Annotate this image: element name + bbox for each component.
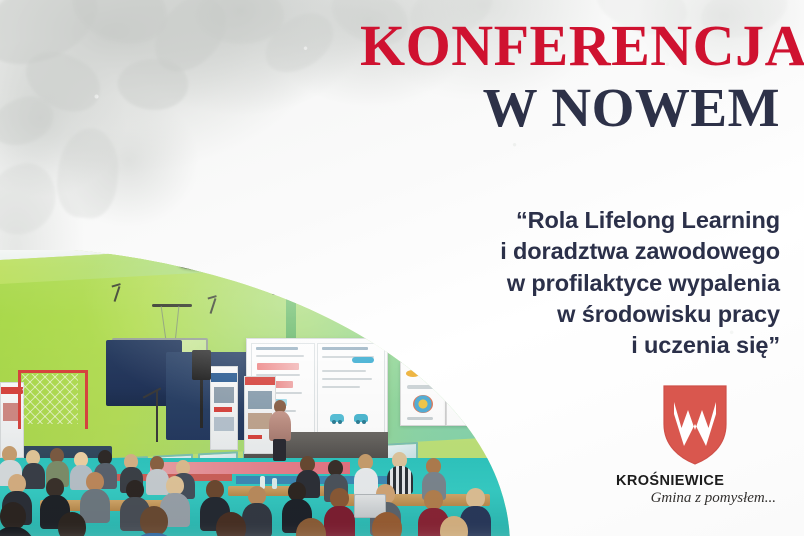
municipality-name: KROŚNIEWICE — [610, 473, 780, 489]
person-head — [424, 490, 443, 510]
person-body — [354, 468, 378, 496]
presenter-body — [269, 411, 291, 441]
person-body — [324, 506, 355, 536]
handball-goal-net — [22, 374, 78, 424]
person-head — [466, 488, 485, 508]
person-head — [330, 488, 349, 508]
headline-line-1: KONFERENCJA — [360, 18, 780, 75]
slide-text-line — [322, 378, 372, 380]
water-bottle-icon — [272, 478, 277, 489]
flipchart-scribble — [407, 417, 433, 420]
page-title: KONFERENCJA W NOWEM — [360, 18, 780, 135]
quote-line-2: i doradztwa zawodowego — [370, 236, 780, 267]
microphone-stand — [156, 390, 158, 442]
slide-title-bar — [322, 347, 368, 350]
quote-line-4: w środowisku pracy — [370, 299, 780, 330]
flipchart-scribble — [413, 395, 433, 413]
person-head — [58, 512, 86, 536]
banner-band — [245, 377, 275, 385]
wall-crossbar — [152, 304, 192, 307]
presenter-legs — [273, 439, 286, 461]
quote-line-3: w profilaktyce wypalenia — [370, 268, 780, 299]
banner-image — [214, 417, 234, 431]
municipality-tagline: Gmina z pomysłem... — [610, 490, 780, 507]
banner-band — [214, 407, 232, 412]
person-head — [216, 512, 246, 536]
speaker-cabinet-icon — [192, 350, 211, 380]
person-body — [80, 489, 110, 523]
slide-text-line — [256, 355, 304, 357]
slide-title-bar — [256, 347, 298, 350]
quote-line-1: “Rola Lifelong Learning — [370, 205, 780, 236]
slide-car-icon — [354, 414, 368, 422]
person-head — [140, 506, 168, 536]
coat-of-arms-shield-icon — [662, 384, 728, 466]
headline-line-2: W NOWEM — [360, 81, 780, 135]
banner-band — [248, 435, 262, 439]
conference-poster: KONFERENCJA W NOWEM “Rola Lifelong Learn… — [0, 0, 804, 536]
slide-text-line — [322, 386, 360, 388]
slide-bar-chart — [257, 363, 299, 370]
person-body — [242, 503, 272, 536]
banner-image — [214, 387, 234, 403]
person-head — [372, 512, 402, 536]
rollup-banner — [210, 366, 238, 450]
conference-topic-quote: “Rola Lifelong Learning i doradztwa zawo… — [370, 205, 780, 361]
quote-line-5: i uczenia się” — [370, 330, 780, 361]
slide-car-icon — [330, 414, 344, 422]
speaker-stand-pole — [200, 380, 203, 428]
banner-image — [248, 391, 272, 409]
slide-text-line — [322, 370, 366, 372]
municipality-logo: KROŚNIEWICE Gmina z pomysłem... — [610, 384, 780, 507]
person-head — [0, 502, 26, 530]
banner-band — [211, 373, 237, 382]
